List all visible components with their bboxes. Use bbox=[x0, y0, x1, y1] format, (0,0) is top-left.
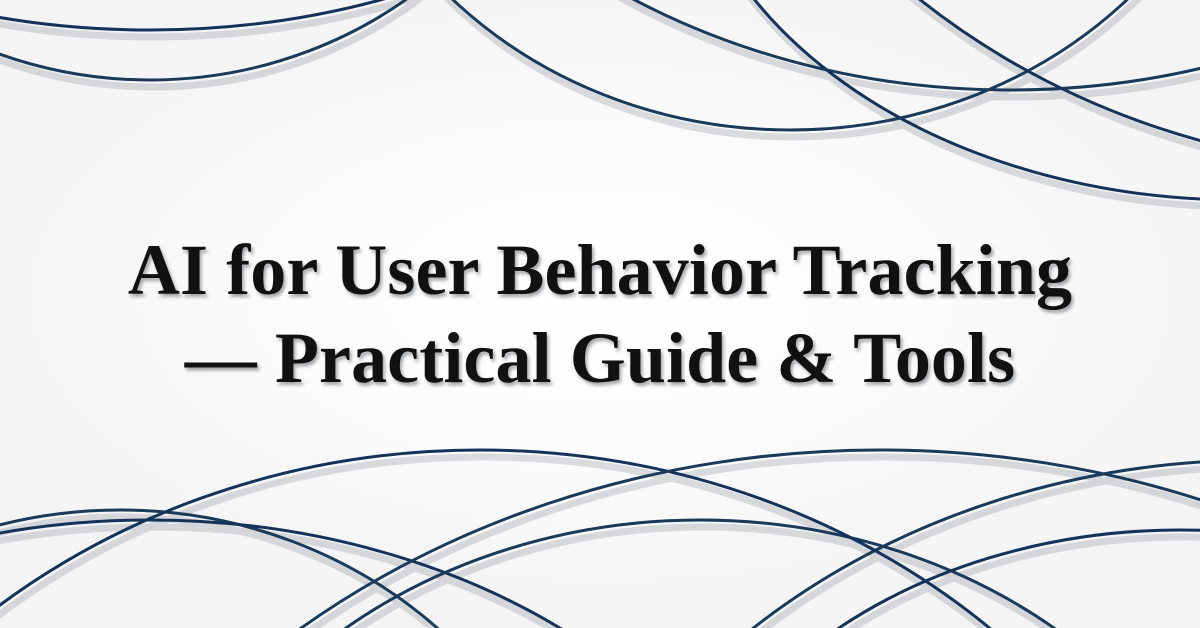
title-block: AI for User Behavior Tracking — Practica… bbox=[0, 0, 1200, 628]
page-title: AI for User Behavior Tracking — Practica… bbox=[96, 226, 1104, 402]
social-card: AI for User Behavior Tracking — Practica… bbox=[0, 0, 1200, 628]
